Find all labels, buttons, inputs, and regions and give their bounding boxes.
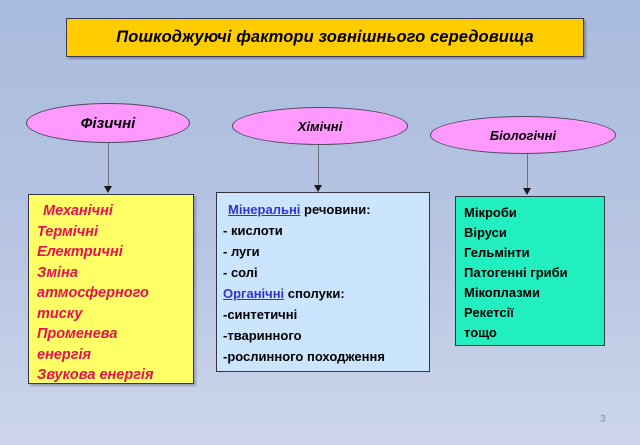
- list-item: Зміна: [37, 263, 188, 284]
- arrow-down-icon-chemical: [314, 185, 322, 192]
- list-item: тиску: [37, 304, 188, 325]
- list-item: Термічні: [37, 222, 188, 243]
- list-item: - кислоти: [223, 220, 425, 241]
- list-item: Мінеральні речовини:: [223, 199, 425, 220]
- arrow-down-icon-biological: [523, 188, 531, 195]
- list-item: Променева: [37, 324, 188, 345]
- content-box-biological: МікробиВірусиГельмінтиПатогенні грибиМік…: [455, 196, 605, 346]
- content-box-physical: МеханічніТермічніЕлектричніЗмінаатмосфер…: [28, 194, 194, 384]
- list-item-text: сполуки:: [284, 286, 344, 301]
- list-item-text: речовини:: [300, 202, 370, 217]
- list-item: Органічні сполуки:: [223, 283, 425, 304]
- list-item: Патогенні гриби: [464, 263, 600, 283]
- node-chemical-label: Хімічні: [298, 119, 343, 134]
- node-physical-ellipse[interactable]: Фізичні: [26, 103, 190, 143]
- slide-title-banner: Пошкоджуючі фактори зовнішнього середови…: [66, 18, 584, 57]
- list-item: Механічні: [37, 201, 188, 222]
- node-physical-label: Фізичні: [81, 115, 136, 132]
- node-biological-ellipse[interactable]: Біологічні: [430, 116, 616, 154]
- list-item: - луги: [223, 241, 425, 262]
- content-box-chemical: Мінеральні речовини:- кислоти- луги- сол…: [216, 192, 430, 372]
- list-item: Звукова енергія: [37, 365, 188, 384]
- page-title: Пошкоджуючі фактори зовнішнього середови…: [116, 28, 534, 47]
- connector-physical: [108, 143, 109, 192]
- list-item: атмосферного: [37, 283, 188, 304]
- node-biological-label: Біологічні: [490, 128, 556, 143]
- list-item: Електричні: [37, 242, 188, 263]
- list-item: Мікроби: [464, 203, 600, 223]
- slide-canvas: Пошкоджуючі фактори зовнішнього середови…: [0, 0, 640, 445]
- node-chemical-ellipse[interactable]: Хімічні: [232, 107, 408, 145]
- page-number: 3: [600, 413, 606, 425]
- link-term[interactable]: Мінеральні: [228, 202, 300, 217]
- list-item: енергія: [37, 345, 188, 366]
- list-item: тощо: [464, 323, 600, 343]
- list-item: -синтетичні: [223, 304, 425, 325]
- list-item: - солі: [223, 262, 425, 283]
- list-item: Рекетсії: [464, 303, 600, 323]
- list-item: -рослинного походження: [223, 346, 425, 367]
- arrow-down-icon-physical: [104, 186, 112, 193]
- list-item: Гельмінти: [464, 243, 600, 263]
- list-item: -тваринного: [223, 325, 425, 346]
- link-term[interactable]: Органічні: [223, 286, 284, 301]
- list-item: Віруси: [464, 223, 600, 243]
- list-item: Мікоплазми: [464, 283, 600, 303]
